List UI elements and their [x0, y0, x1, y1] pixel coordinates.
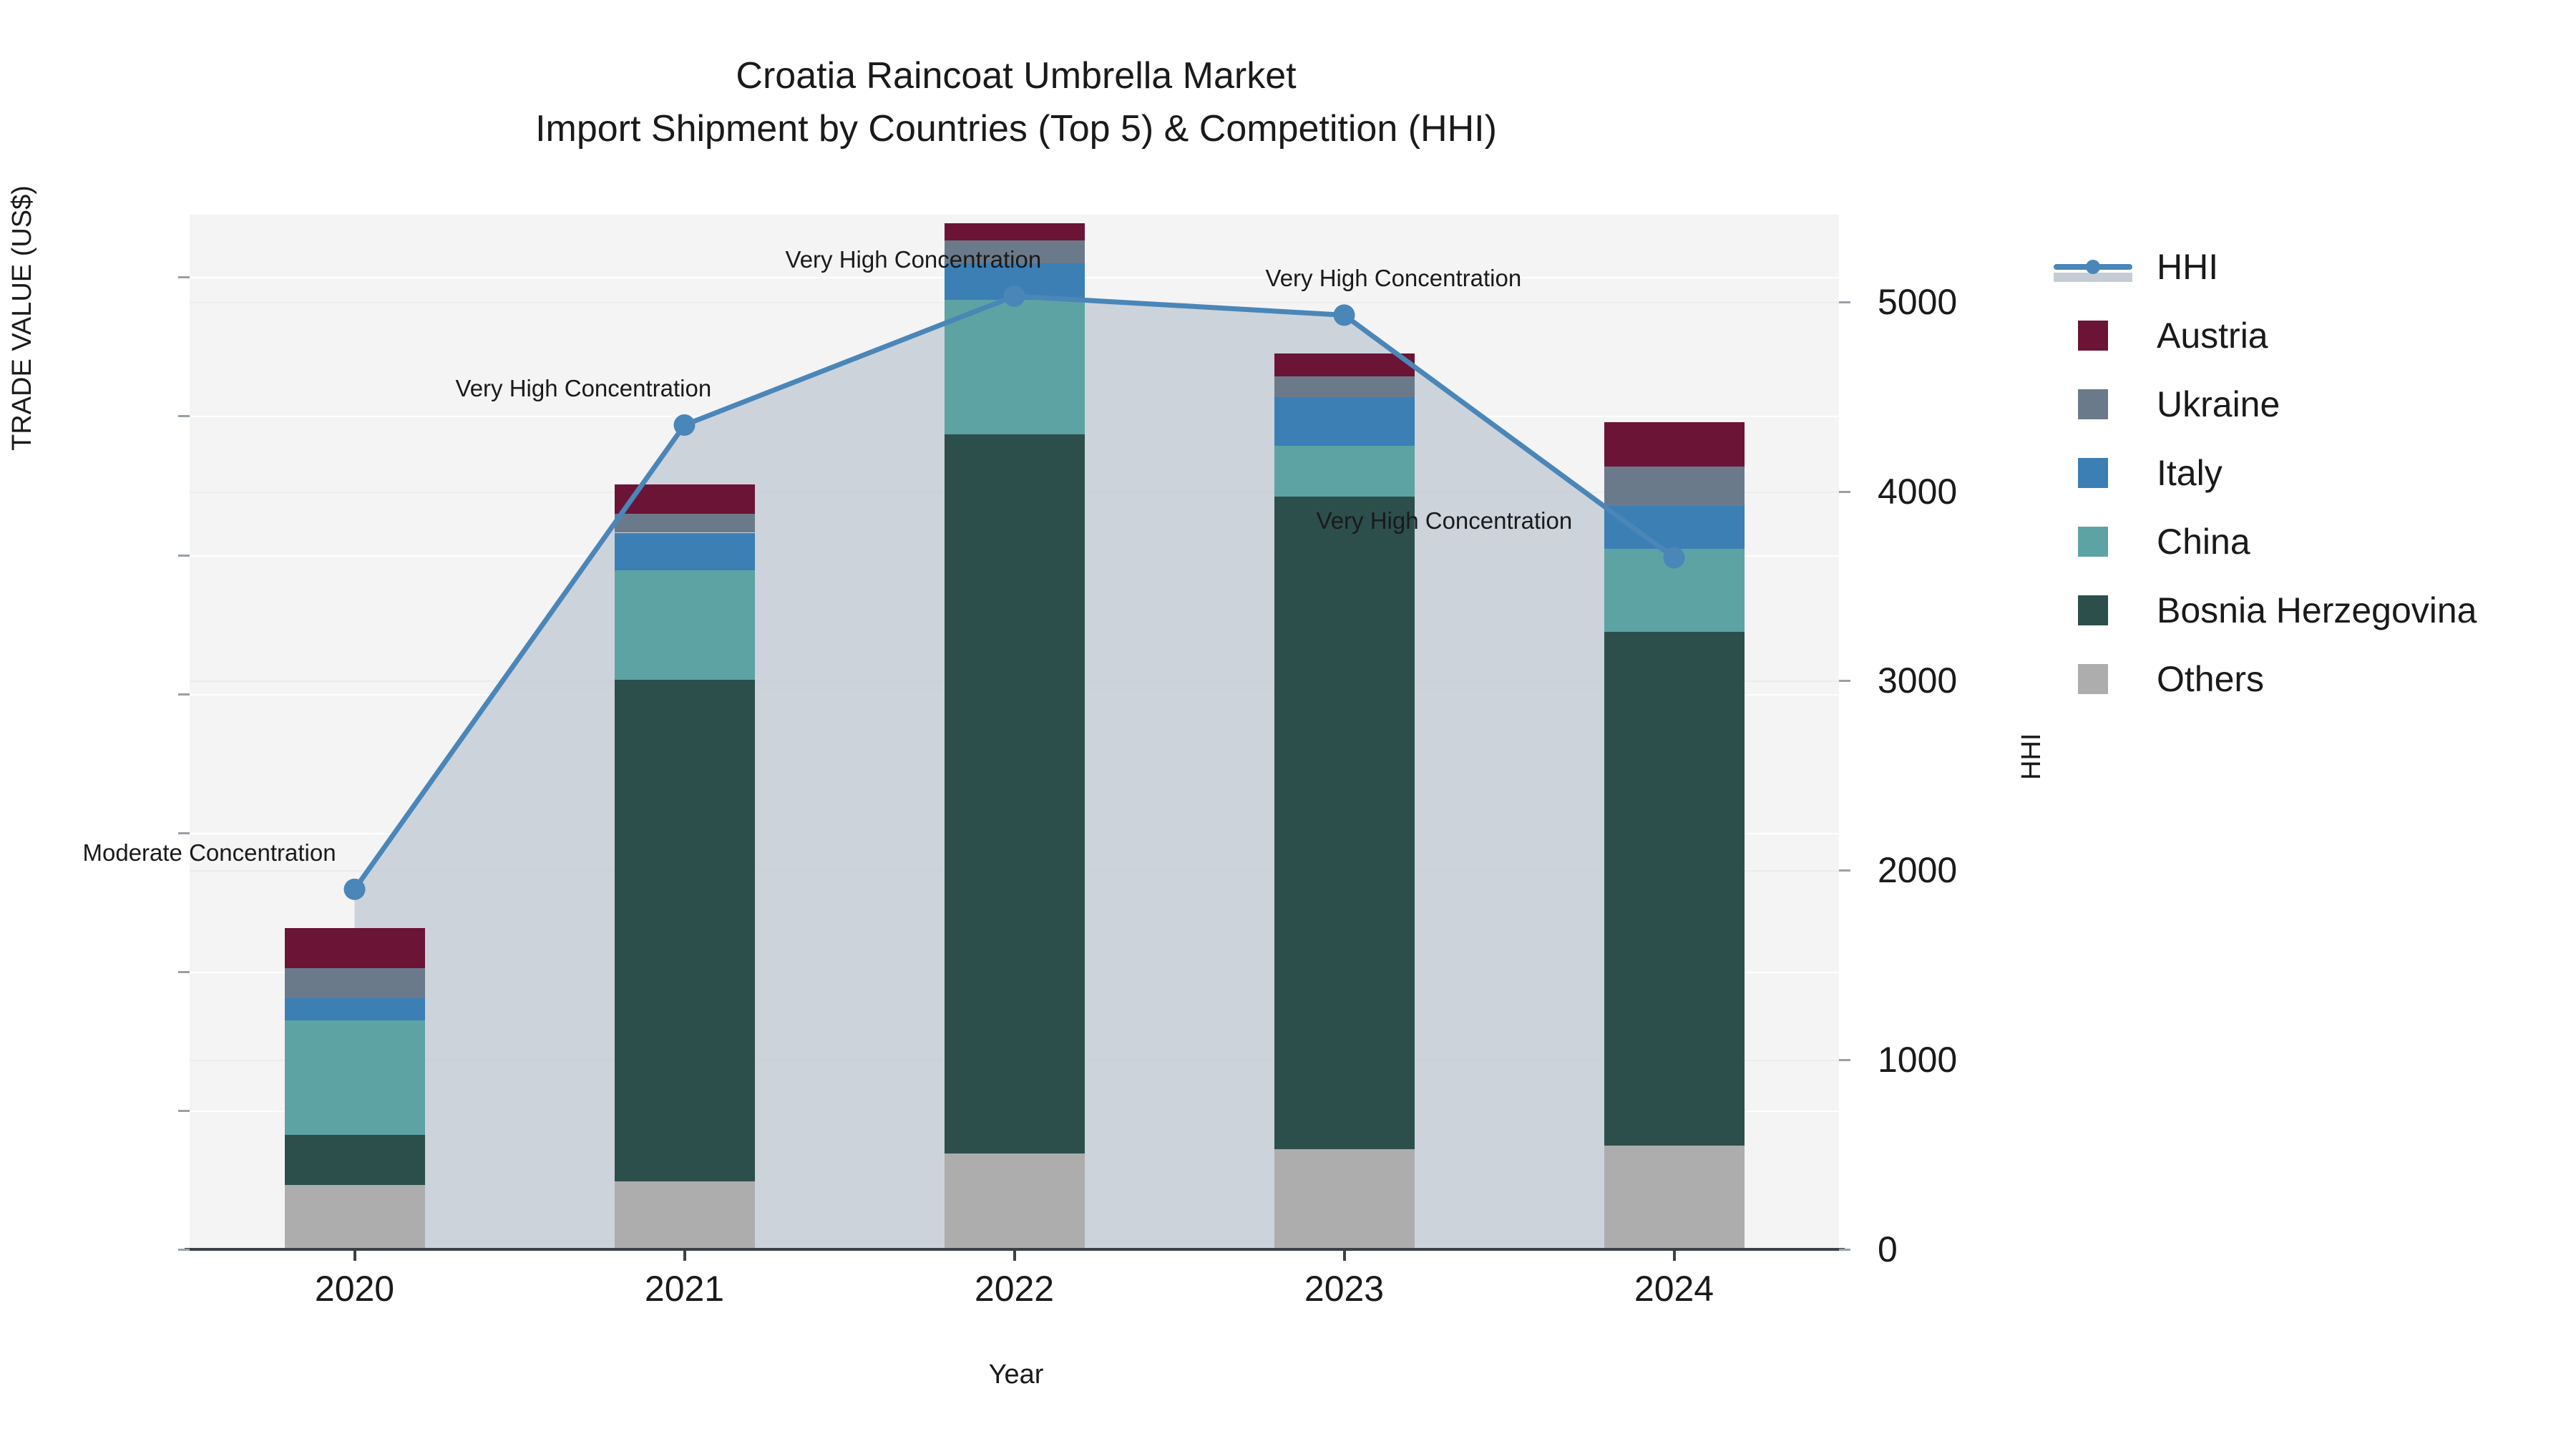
y-tick-left: [178, 1249, 190, 1251]
bar-group[interactable]: [285, 215, 425, 1249]
y-tick-left: [178, 1110, 190, 1112]
bar-segment[interactable]: [1274, 1149, 1415, 1249]
bar-segment[interactable]: [945, 1153, 1085, 1249]
bar-group[interactable]: [615, 215, 755, 1249]
bar-segment[interactable]: [615, 533, 755, 570]
x-tick-label: 2024: [1634, 1268, 1714, 1309]
y-tick-right: [1839, 491, 1850, 493]
legend-item-label: Ukraine: [2157, 384, 2280, 425]
x-axis-title: Year: [0, 1360, 2032, 1390]
y-tick-label-right: 1000: [1878, 1039, 1957, 1080]
legend-color-swatch: [2078, 664, 2108, 694]
bar-segment[interactable]: [945, 300, 1085, 434]
bar-segment[interactable]: [615, 484, 755, 514]
bar-segment[interactable]: [1604, 467, 1745, 505]
y-tick-right: [1839, 1249, 1850, 1251]
legend-item-label: Others: [2157, 658, 2264, 700]
x-tick: [1343, 1249, 1346, 1261]
y-tick-left: [178, 832, 190, 834]
bar-segment[interactable]: [285, 998, 425, 1020]
bar-segment[interactable]: [285, 1185, 425, 1249]
bar-segment[interactable]: [615, 514, 755, 532]
legend-item[interactable]: HHI: [2054, 233, 2477, 301]
y-tick-right: [1839, 869, 1850, 872]
legend-item-label: Italy: [2157, 452, 2223, 494]
y-tick-label-right: 4000: [1878, 471, 1957, 512]
bar-segment[interactable]: [1604, 549, 1745, 632]
legend-item[interactable]: Italy: [2054, 439, 2477, 507]
y-tick-right: [1839, 301, 1850, 303]
legend-item[interactable]: Bosnia Herzegovina: [2054, 576, 2477, 645]
legend-item-label: China: [2157, 521, 2250, 562]
concentration-annotation: Very High Concentration: [786, 246, 1042, 273]
bar-segment[interactable]: [285, 1020, 425, 1135]
y-axis-right-title: HHI: [2016, 733, 2047, 780]
chart-title-block: Croatia Raincoat Umbrella Market Import …: [0, 50, 2032, 156]
bar-segment[interactable]: [615, 1181, 755, 1249]
legend-color-swatch: [2078, 389, 2108, 419]
bar-segment[interactable]: [1274, 497, 1415, 1149]
legend-line-marker: [2054, 252, 2132, 282]
y-tick-left: [178, 693, 190, 696]
legend-item[interactable]: Austria: [2054, 301, 2477, 370]
y-tick-label-right: 2000: [1878, 849, 1957, 891]
y-tick-label-right: 5000: [1878, 281, 1957, 323]
y-tick-left: [178, 415, 190, 417]
chart-subtitle: Import Shipment by Countries (Top 5) & C…: [0, 103, 2032, 156]
legend-line-dot: [2086, 260, 2100, 274]
bar-segment[interactable]: [285, 1135, 425, 1185]
bar-group[interactable]: [1274, 215, 1415, 1249]
bar-segment[interactable]: [1604, 1146, 1745, 1249]
bar-segment[interactable]: [615, 570, 755, 680]
bar-segment[interactable]: [1274, 397, 1415, 446]
y-tick-left: [178, 276, 190, 278]
y-axis-left-title: TRADE VALUE (US$): [7, 185, 38, 451]
legend-item-label: Austria: [2157, 315, 2268, 356]
concentration-annotation: Very High Concentration: [1317, 507, 1573, 535]
plot-area: [190, 215, 1839, 1249]
bar-segment[interactable]: [285, 928, 425, 968]
concentration-annotation: Very High Concentration: [1266, 265, 1522, 292]
legend-color-swatch: [2078, 527, 2108, 557]
bar-segment[interactable]: [285, 968, 425, 998]
bar-segment[interactable]: [945, 434, 1085, 1153]
legend-item-label: HHI: [2157, 246, 2218, 288]
legend-item[interactable]: Ukraine: [2054, 370, 2477, 439]
y-tick-right: [1839, 680, 1850, 682]
x-tick: [683, 1249, 686, 1261]
bar-segment[interactable]: [1274, 353, 1415, 376]
bar-segment[interactable]: [615, 680, 755, 1181]
bar-group[interactable]: [945, 215, 1085, 1249]
y-tick-left: [178, 555, 190, 557]
chart-title: Croatia Raincoat Umbrella Market: [0, 50, 2032, 103]
bar-segment[interactable]: [1604, 506, 1745, 549]
x-tick-label: 2021: [645, 1268, 724, 1309]
y-tick-right: [1839, 1059, 1850, 1061]
y-tick-label-right: 0: [1878, 1229, 1898, 1270]
legend-item[interactable]: Others: [2054, 645, 2477, 713]
x-tick: [353, 1249, 356, 1261]
x-tick-label: 2022: [975, 1268, 1054, 1309]
bar-segment[interactable]: [1274, 376, 1415, 397]
legend-color-swatch: [2078, 458, 2108, 488]
bar-segment[interactable]: [1604, 632, 1745, 1146]
legend-item-label: Bosnia Herzegovina: [2157, 590, 2477, 631]
legend: HHIAustriaUkraineItalyChinaBosnia Herzeg…: [2054, 233, 2477, 713]
bar-segment[interactable]: [1604, 422, 1745, 467]
x-tick-label: 2023: [1304, 1268, 1384, 1309]
legend-color-swatch: [2078, 321, 2108, 351]
bar-segment[interactable]: [945, 223, 1085, 240]
bar-group[interactable]: [1604, 215, 1745, 1249]
legend-item[interactable]: China: [2054, 507, 2477, 576]
concentration-annotation: Very High Concentration: [456, 375, 712, 402]
y-tick-label-right: 3000: [1878, 660, 1957, 701]
x-tick-label: 2020: [315, 1268, 394, 1309]
x-tick: [1013, 1249, 1016, 1261]
x-tick: [1673, 1249, 1676, 1261]
legend-color-swatch: [2078, 595, 2108, 625]
bar-segment[interactable]: [1274, 446, 1415, 497]
concentration-annotation: Moderate Concentration: [83, 839, 336, 867]
y-tick-left: [178, 971, 190, 973]
